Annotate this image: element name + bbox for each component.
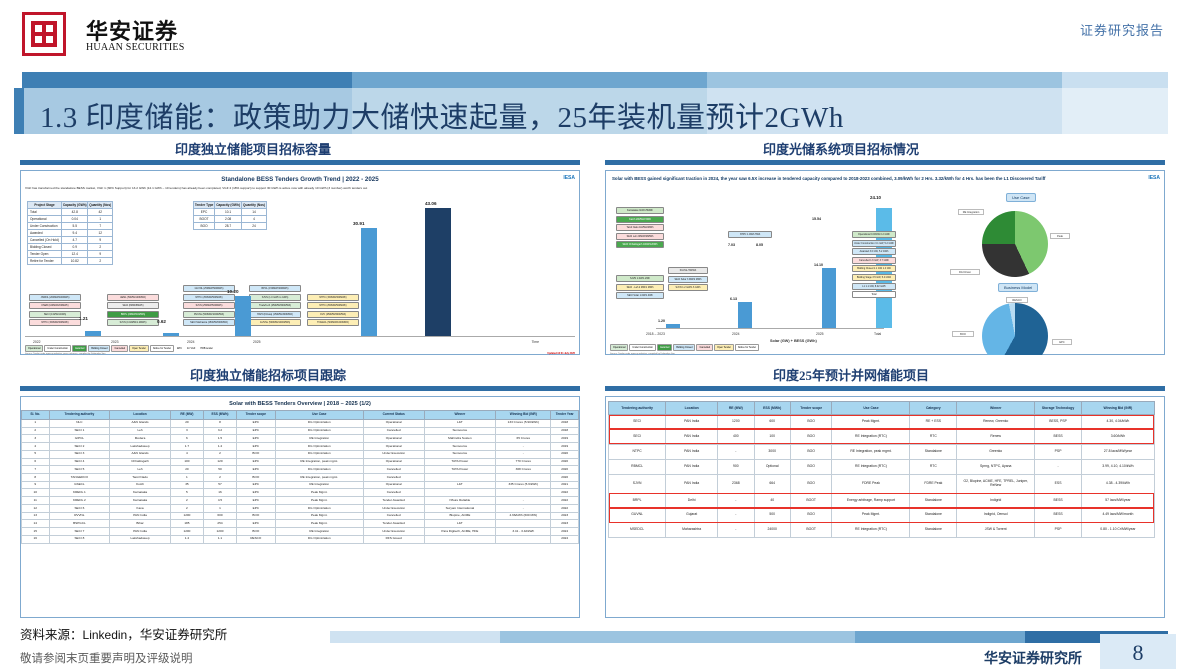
- source-line: 资料来源：Linkedin，华安证券研究所: [20, 624, 227, 643]
- table-row: 11KREDL 2Karnataka24.5EPCPeak Mgmt.Tende…: [22, 497, 579, 505]
- figure1-title: Standalone BESS Tenders Growth Trend | 2…: [21, 176, 579, 183]
- huaan-seal-icon: [22, 12, 66, 56]
- figure1-chips-2025a: BPCL (150MW/300MWh) SJVN (1.0 GWh to GWh…: [249, 285, 301, 328]
- table-row: SECIPAN India1200600BOOPeak Mgmt.RE + ES…: [609, 415, 1155, 430]
- figure1-standalone-bess-growth: IESA Standalone BESS Tenders Growth Tren…: [20, 160, 580, 355]
- title-band-segment-2: [352, 72, 707, 88]
- pie1-label-peak: Peak: [1050, 233, 1070, 239]
- footer-band-3: [855, 631, 1025, 643]
- page-title: 1.3 印度储能：政策助力大储快速起量，25年装机量预计2GWh: [40, 94, 844, 136]
- bar-total: [425, 208, 451, 336]
- source-value: Linkedin: [83, 628, 128, 642]
- figure4-expected-grid-storage-table: Tendering authority Location RE (MW) ESS…: [605, 386, 1165, 618]
- footer-band-2: [500, 631, 855, 643]
- pie1-label-re: RE Integration: [958, 209, 984, 215]
- figure2-headline: Solar with BESS gained significant tract…: [612, 176, 1158, 183]
- table-row: 13RVVNLPAN India1200600BOOPeak Mgmt.Canc…: [22, 512, 579, 520]
- source-prefix: 资料来源：: [20, 628, 83, 642]
- table-row: Under Construction5.57: [28, 223, 113, 230]
- title-strip-4: [1062, 88, 1168, 134]
- figure2-bar-2024: [738, 302, 752, 328]
- figure3-table: Sl. No. Tendering authority Location RE …: [21, 410, 579, 544]
- table-row: RBMCLPAN India900OptionalBOORE Integrati…: [609, 459, 1155, 474]
- figure4-table: Tendering authority Location RE (MW) ESS…: [608, 401, 1155, 538]
- table-row: Cancelled (On Hold)4.79: [28, 237, 113, 244]
- bar-2024: [235, 296, 251, 336]
- table-row: BOOT2.084: [194, 216, 267, 223]
- table-row: SECIPAN India400100BOORE Integration (RT…: [609, 429, 1155, 444]
- table-row: Bidding Closed0.92: [28, 244, 113, 251]
- figure2-solar-with-bess: IESA Solar with BESS gained significant …: [605, 160, 1165, 355]
- brand-name-en: HUAAN SECURITIES: [86, 42, 184, 53]
- col-quantity: Quantity (Nos): [88, 202, 113, 209]
- figure2-caption: 印度光储系统项目招标情况: [763, 139, 919, 158]
- figure4-header-row: Tendering authority Location RE (MW) ESS…: [609, 402, 1155, 415]
- footer-band-1: [330, 631, 500, 643]
- table-row: 12SECI 6Kava21EPCDG OptimizationUnder Ex…: [22, 504, 579, 512]
- table-row: Operational0.041: [28, 216, 113, 223]
- figure1-updated: Updated till 31 July 2025: [547, 352, 575, 355]
- figure2-early-chips-2: SJVN 1.0W/1.2Wh SECI - Lah 2 MW/1 MWh SE…: [616, 275, 664, 301]
- pie2-label-epc: EPC: [1052, 339, 1072, 345]
- use-case-pie-chart: [982, 211, 1048, 277]
- figure2-bar-2025: [822, 268, 836, 328]
- figure1-chips-2023: AEML (50MW/100MWh) SECI (8MW/8MWh) BRPL …: [107, 294, 159, 328]
- slide-title-band: 1.3 印度储能：政策助力大储快速起量，25年装机量预计2GWh: [0, 72, 1190, 134]
- table-row: Tender Open12.49: [28, 251, 113, 258]
- business-model-pie-chart: [982, 303, 1048, 355]
- source-suffix: ，华安证券研究所: [127, 628, 227, 642]
- figure2-source: Source: Tender node agency websites, com…: [610, 353, 675, 355]
- table-row: Total42.842: [28, 209, 113, 216]
- figure1-chips-2025b: NTPC (150MW/300MWh) NTPC (250MW/500MWh) …: [307, 294, 359, 328]
- figure3-tenders-overview-table: Solar with BESS Tenders Overview | 2018 …: [20, 386, 580, 618]
- table-row: 4SECI 2Lakshadweep1.71.4EPCDG Optimizati…: [22, 443, 579, 451]
- pie2-label-boo: BOO: [952, 331, 974, 337]
- pie1-label-dg: DG Driven: [950, 269, 980, 275]
- figure1-stage-table: Project Stage Capacity (GWh) Quantity (N…: [27, 201, 113, 265]
- table-row: GUVNLGujarat-500BOOPeak Mgmt.StandaloneI…: [609, 508, 1155, 523]
- figure2-ntpc-chips: NTPC 1.0W/1.5Wh: [728, 231, 772, 240]
- disclaimer-text: 敬请参阅末页重要声明及评级说明: [20, 650, 193, 666]
- pie2-title: Business Model: [998, 283, 1038, 292]
- figure1-brand: IESA: [563, 175, 575, 181]
- figure1-x-axis: [25, 336, 575, 337]
- table-row: 16SECI 8Lakshadweep1.41.1RESCODG Optimiz…: [22, 535, 579, 543]
- page-number: 8: [1108, 640, 1168, 666]
- bar-2025: [361, 228, 377, 336]
- title-accent-bar: [14, 88, 24, 134]
- table-row: 1NLCA&N Islands208EPCDG OptimizationOper…: [22, 419, 579, 427]
- title-band-segment-1: [22, 72, 352, 88]
- figure2-brand: IESA: [1148, 175, 1160, 181]
- table-row: 2SECI 1Leh33.2EPCDG OptimizationCancelle…: [22, 427, 579, 435]
- figure2-legend: Operational Under Construction Awarded B…: [610, 344, 894, 351]
- figure1-source: Source: Tender node agency websites, pre…: [25, 353, 105, 355]
- table-row: EPC10.114: [194, 209, 267, 216]
- report-type-label: 证券研究报告: [1080, 20, 1164, 39]
- figure2-axis-caption: Solar (GW) + BESS (GWh): [770, 339, 817, 343]
- table-row: SJVNPAN India2368664BOOFDRE PeakFDRE Pea…: [609, 474, 1155, 493]
- title-band-segment-3: [707, 72, 1062, 88]
- table-row: 14BSPGCLBihar185254EPCPeak Mgmt.Tender A…: [22, 520, 579, 528]
- figure3-title: Solar with BESS Tenders Overview | 2018 …: [21, 397, 579, 410]
- table-row: 6SECI 4Chhattisgarh100120EPCRE Integrati…: [22, 458, 579, 466]
- table-row: 9GSECLKutch3557EPCRE IntegrationOperatio…: [22, 481, 579, 489]
- figure2-x-axis: [656, 328, 884, 329]
- table-row: 15SECI 7PAN India12001200BOORE Integrati…: [22, 528, 579, 536]
- table-row: BOO28.724: [194, 223, 267, 230]
- table-row: 8TANGEDCOTamil Nadu12BOORE Integration, …: [22, 473, 579, 481]
- figure2-mid-chips: KUVGL 5W/Wh SECI Solar 3 MW/2 MWh SJVN 1…: [668, 267, 708, 293]
- table-row: 10KREDL 1Karnataka516EPCPeak Mgmt.Cancel…: [22, 489, 579, 497]
- institute-name: 华安证券研究所: [984, 648, 1082, 668]
- figure2-status-chips: Operational 0.03GW 0.2 GWh Under Constru…: [852, 231, 896, 300]
- pie1-title: Use Case: [1006, 193, 1036, 202]
- table-row: 3GIPCLModera61.5EPCRE IntegrationOperati…: [22, 435, 579, 443]
- figure1-chips-2022: JSWNL (200MW/400MWh) KSEB (100MW/200MWh)…: [29, 294, 81, 328]
- title-band-segment-4: [1062, 72, 1168, 88]
- table-row: Awarded9.412: [28, 230, 113, 237]
- table-row: BRPLDelhi-40BOOTEnergy arbitrage, Ramp s…: [609, 493, 1155, 508]
- figure1-caption: 印度独立储能项目招标容量: [175, 139, 331, 158]
- figure2-early-chips: Karnataka 21W/4.5MWh Katch 20MW/2.5WD Ta…: [616, 207, 664, 250]
- table-row: 5SECI 3A&N Islands42BOODG OptimizationUn…: [22, 450, 579, 458]
- table-row: Retire for Tender10.822: [28, 258, 113, 265]
- table-row: 7SECI 5Leh2050EPCDG OptimizationCancelle…: [22, 466, 579, 474]
- pie2-label-resco: RESCO: [1006, 297, 1028, 303]
- page-header: 华安证券 HUAAN SECURITIES 证券研究报告: [0, 0, 1190, 66]
- table-row: MSEDCLMaharashtra-24000BOOTRE Integratio…: [609, 523, 1155, 538]
- col-project-stage: Project Stage: [28, 202, 62, 209]
- col-capacity: Capacity (GWh): [62, 202, 88, 209]
- figure4-caption: 印度25年预计并网储能项目: [773, 365, 929, 384]
- figure3-caption: 印度独立储能招标项目跟踪: [190, 365, 346, 384]
- figure3-header-row: Sl. No. Tendering authority Location RE …: [22, 411, 579, 420]
- figure1-note: VGF has transformed the standalone BESS …: [25, 186, 575, 190]
- figure1-tender-type-table: Tender Type Capacity (GWh) Quantity (Nos…: [193, 201, 267, 230]
- table-row: NTPCPAN India-3000BOORE Integration, pea…: [609, 444, 1155, 459]
- figure1-legend: Operational Under Construction Awarded B…: [25, 345, 575, 352]
